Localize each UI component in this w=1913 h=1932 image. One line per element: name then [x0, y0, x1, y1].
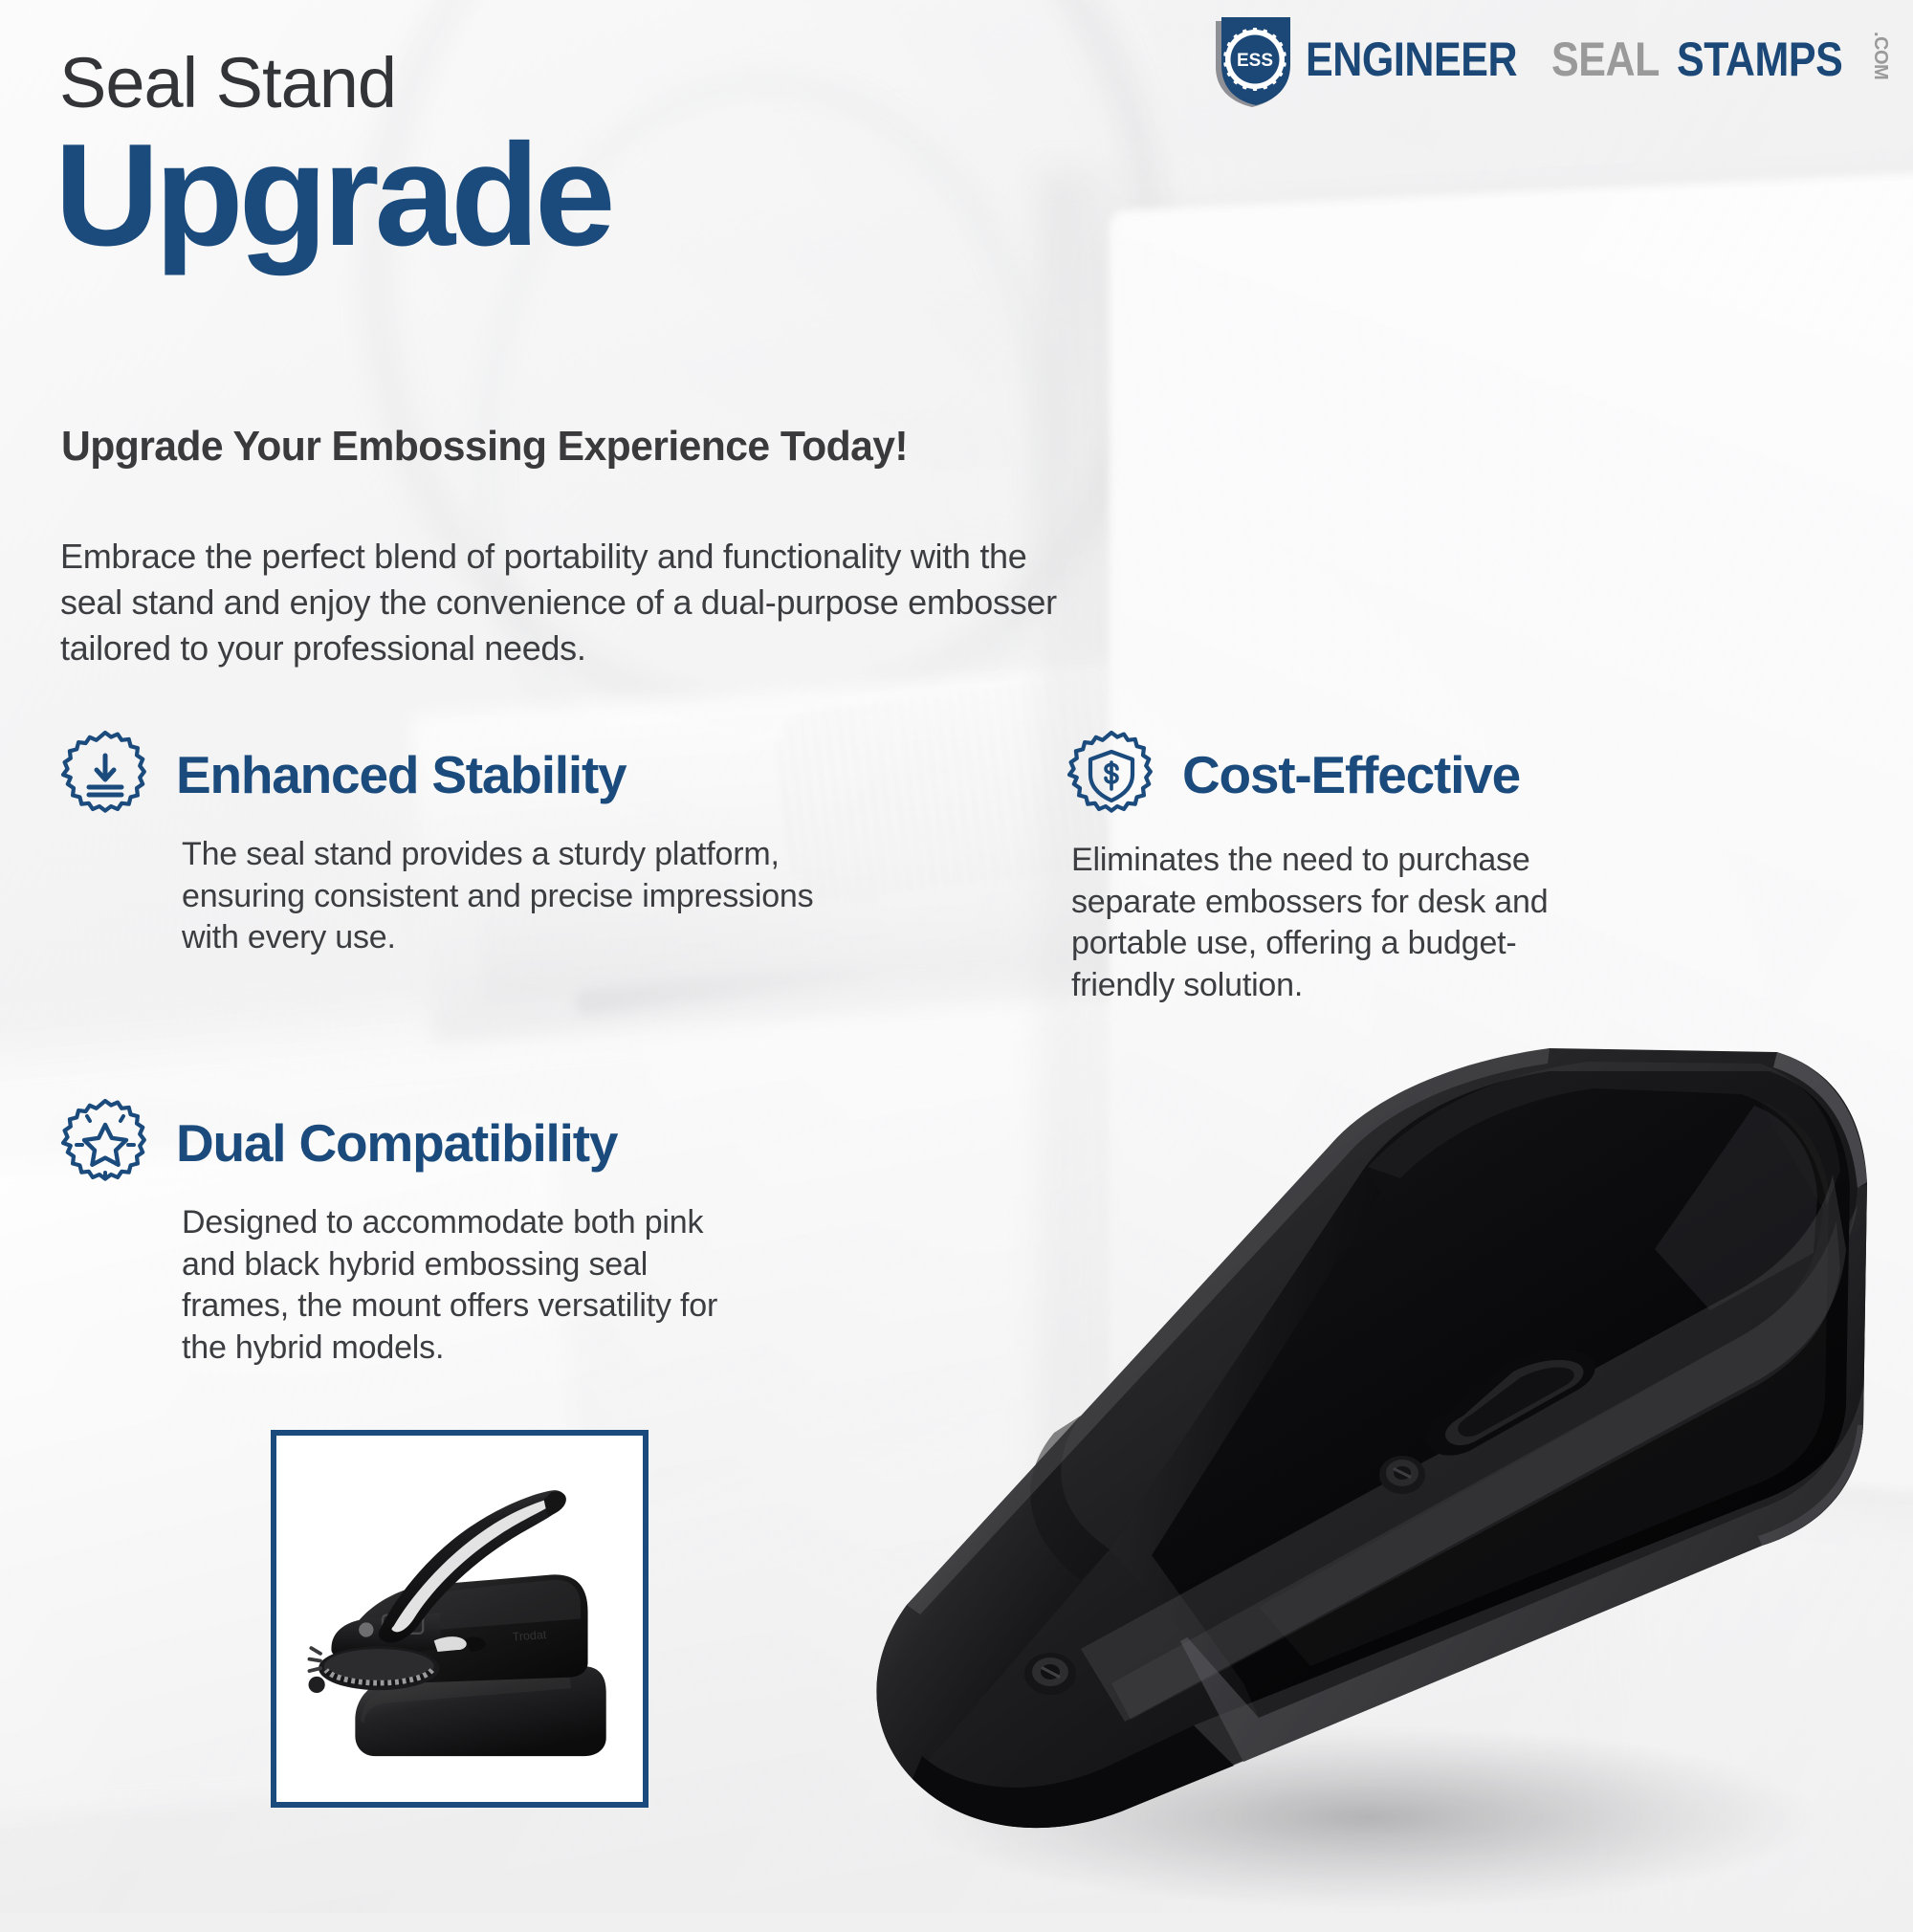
- main-product-photo: [794, 1014, 1913, 1932]
- intro-paragraph: Embrace the perfect blend of portability…: [60, 534, 1074, 671]
- eyebrow-title: Seal Stand: [59, 42, 396, 123]
- feature-body: Designed to accommodate both pink and bl…: [182, 1202, 727, 1369]
- seal-stand-illustration: [794, 1014, 1913, 1932]
- feature-body: The seal stand provides a sturdy platfor…: [182, 834, 851, 959]
- badge-sparkle-star-icon: [57, 1095, 153, 1191]
- logo-text-tld: .COM: [1871, 32, 1890, 79]
- ess-monogram: ESS: [1237, 51, 1273, 71]
- brand-logo: ESS ENGINEER SEAL STAMPS .COM: [1208, 11, 1890, 107]
- badge-shield-dollar-icon: [1064, 727, 1159, 823]
- feature-title: Enhanced Stability: [176, 744, 626, 805]
- page-title: Upgrade: [55, 122, 611, 268]
- logo-text-seal: SEAL: [1551, 35, 1660, 83]
- handheld-embosser-on-stand-illustration: Trodat: [276, 1436, 643, 1802]
- badge-down-arrow-platform-icon: [57, 727, 153, 823]
- feature-title: Cost-Effective: [1182, 744, 1520, 805]
- logo-text-stamps: STAMPS: [1677, 35, 1842, 83]
- feature-title: Dual Compatibility: [176, 1112, 617, 1174]
- feature-body: Eliminates the need to purchase separate…: [1071, 840, 1607, 1006]
- inset-product-photo-frame: Trodat: [271, 1430, 649, 1808]
- feature-dual-compatibility: Dual Compatibility Designed to accommoda…: [57, 1095, 727, 1369]
- svg-text:Trodat: Trodat: [512, 1628, 547, 1643]
- ess-shield-gear-icon: ESS: [1208, 11, 1296, 107]
- subheadline: Upgrade Your Embossing Experience Today!: [61, 423, 908, 471]
- feature-cost-effective: Cost-Effective Eliminates the need to pu…: [1071, 727, 1607, 1006]
- feature-enhanced-stability: Enhanced Stability The seal stand provid…: [57, 727, 851, 959]
- logo-text-engineer: ENGINEER: [1306, 35, 1517, 83]
